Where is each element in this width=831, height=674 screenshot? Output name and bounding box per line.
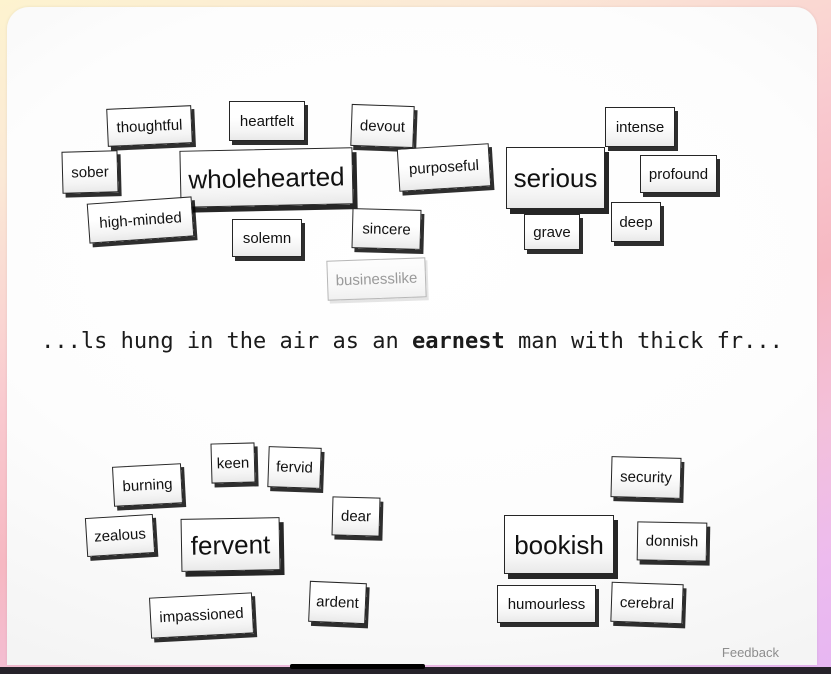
sentence-headword: earnest	[412, 329, 505, 354]
word-tile[interactable]: high-minded	[87, 196, 195, 243]
word-tile[interactable]: purposeful	[397, 143, 491, 192]
word-cloud-card: thoughtfulheartfeltdevoutintensesoberwho…	[7, 7, 817, 665]
window-bottom-chrome	[0, 667, 831, 674]
word-tile[interactable]: ardent	[308, 581, 367, 624]
word-tile[interactable]: wholehearted	[179, 147, 353, 208]
word-tile[interactable]: solemn	[232, 219, 302, 257]
word-tile[interactable]: devout	[350, 104, 414, 148]
word-tile[interactable]: donnish	[637, 521, 708, 561]
example-sentence: ...ls hung in the air as an earnest man …	[7, 329, 817, 354]
word-tile[interactable]: zealous	[85, 514, 155, 557]
word-tile[interactable]: humourless	[497, 585, 596, 623]
word-tile[interactable]: fervid	[267, 446, 321, 489]
word-tile[interactable]: sincere	[351, 208, 421, 250]
word-tile[interactable]: keen	[210, 442, 255, 483]
word-tile[interactable]: profound	[640, 155, 717, 193]
word-tile[interactable]: cerebral	[610, 582, 683, 624]
feedback-link[interactable]: Feedback	[722, 645, 779, 660]
sentence-prefix: ...ls hung in the air as an	[41, 329, 412, 354]
word-tile[interactable]: fervent	[181, 517, 281, 572]
word-tile[interactable]: impassioned	[149, 592, 254, 638]
word-tile[interactable]: burning	[112, 463, 183, 507]
word-tile[interactable]: bookish	[504, 515, 614, 574]
word-tile[interactable]: heartfelt	[229, 101, 305, 141]
word-tile[interactable]: sober	[61, 150, 118, 193]
word-tile[interactable]: thoughtful	[106, 105, 193, 147]
word-tile[interactable]: deep	[611, 202, 661, 242]
word-tile[interactable]: grave	[524, 214, 580, 250]
sentence-suffix: man with thick fr...	[505, 329, 783, 354]
word-tile[interactable]: businesslike	[326, 257, 426, 300]
bottom-chrome-nub	[290, 664, 425, 669]
word-tile[interactable]: security	[610, 456, 681, 499]
word-tile[interactable]: intense	[605, 107, 675, 147]
word-tile[interactable]: serious	[506, 147, 605, 209]
word-tile[interactable]: dear	[331, 496, 380, 536]
